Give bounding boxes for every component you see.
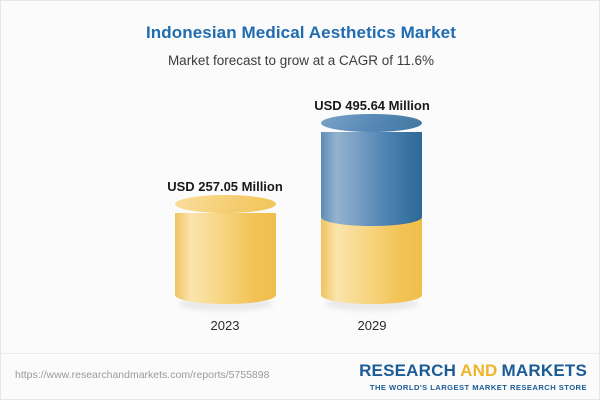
cylinder-top-cap-2023 — [175, 195, 276, 213]
bar-value-label-2023: USD 257.05 Million — [115, 179, 335, 194]
logo-tagline: THE WORLD'S LARGEST MARKET RESEARCH STOR… — [359, 383, 587, 392]
cylinder-bottom-cap-2029 — [321, 286, 422, 304]
cylinder-top-cap-2029 — [321, 114, 422, 132]
footer: https://www.researchandmarkets.com/repor… — [1, 353, 600, 400]
cylinder-segment-divider-2029 — [321, 208, 422, 226]
logo-word-research: RESEARCH — [359, 361, 456, 380]
logo-wordmark: RESEARCHANDMARKETS — [359, 361, 587, 381]
cylinder-bottom-cap-2023 — [175, 286, 276, 304]
chart-canvas: Indonesian Medical Aesthetics Market Mar… — [0, 0, 600, 400]
cylinder-body-2029-base — [321, 217, 422, 295]
logo-word-and: AND — [460, 361, 497, 380]
bar-category-label-2029: 2029 — [272, 318, 472, 333]
brand-logo[interactable]: RESEARCHANDMARKETS THE WORLD'S LARGEST M… — [359, 361, 587, 392]
logo-word-markets: MARKETS — [502, 361, 587, 380]
bar-value-label-2029: USD 495.64 Million — [262, 98, 482, 113]
cylinder-body-2029-growth — [321, 132, 422, 217]
cylinder-body-2023-base — [175, 213, 276, 295]
plot-area: USD 257.05 Million 2023 USD 495.64 Milli… — [1, 1, 600, 353]
source-url[interactable]: https://www.researchandmarkets.com/repor… — [15, 369, 269, 381]
